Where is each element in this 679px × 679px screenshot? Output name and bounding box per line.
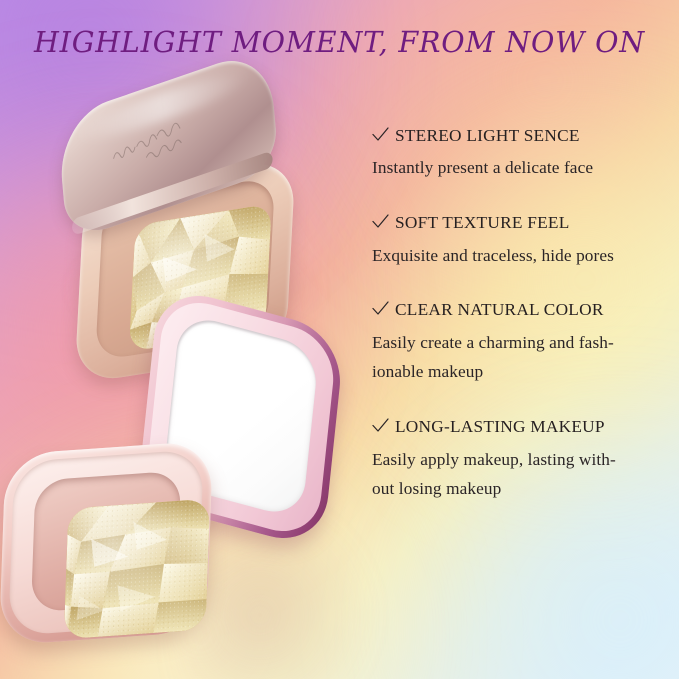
feature-description: Easily create a charming and fash- ionab…	[372, 328, 674, 388]
feature-description: Instantly present a delicate face	[372, 153, 674, 183]
lower-compact-base	[0, 440, 213, 645]
check-icon	[372, 301, 389, 316]
feature-item: STEREO LIGHT SENCE Instantly present a d…	[372, 126, 674, 183]
feature-title: CLEAR NATURAL COLOR	[395, 300, 604, 320]
product-infographic: HIGHLIGHT MOMENT, FROM NOW ON	[0, 0, 679, 679]
lower-compact-base-lip	[8, 449, 204, 636]
gold-faceted-powder-texture	[64, 499, 210, 640]
feature-description-line: Easily apply makeup, lasting with-	[372, 445, 674, 475]
feature-item: CLEAR NATURAL COLOR Easily create a char…	[372, 300, 674, 387]
check-icon	[372, 214, 389, 229]
lower-compact-powder-pan	[64, 499, 210, 640]
feature-list: STEREO LIGHT SENCE Instantly present a d…	[372, 126, 674, 504]
feature-title: LONG-LASTING MAKEUP	[395, 417, 605, 437]
feature-heading: SOFT TEXTURE FEEL	[372, 213, 674, 233]
feature-description: Easily apply makeup, lasting with- out l…	[372, 445, 674, 505]
check-icon	[372, 418, 389, 433]
feature-heading: LONG-LASTING MAKEUP	[372, 417, 674, 437]
feature-description-line: out losing makeup	[372, 474, 674, 504]
feature-heading: STEREO LIGHT SENCE	[372, 126, 674, 146]
feature-description-line: Instantly present a delicate face	[372, 153, 674, 183]
page-title: HIGHLIGHT MOMENT, FROM NOW ON	[0, 26, 679, 59]
feature-description-line: ionable makeup	[372, 357, 674, 387]
feature-item: LONG-LASTING MAKEUP Easily apply makeup,…	[372, 417, 674, 504]
check-icon	[372, 127, 389, 142]
feature-heading: CLEAR NATURAL COLOR	[372, 300, 674, 320]
feature-title: STEREO LIGHT SENCE	[395, 126, 580, 146]
feature-description: Exquisite and traceless, hide pores	[372, 241, 674, 271]
feature-item: SOFT TEXTURE FEEL Exquisite and traceles…	[372, 213, 674, 270]
lower-compact-base-inner-rim	[31, 471, 181, 613]
lower-compact-product-image	[0, 300, 364, 670]
feature-title: SOFT TEXTURE FEEL	[395, 213, 570, 233]
feature-description-line: Easily create a charming and fash-	[372, 328, 674, 358]
feature-description-line: Exquisite and traceless, hide pores	[372, 241, 674, 271]
